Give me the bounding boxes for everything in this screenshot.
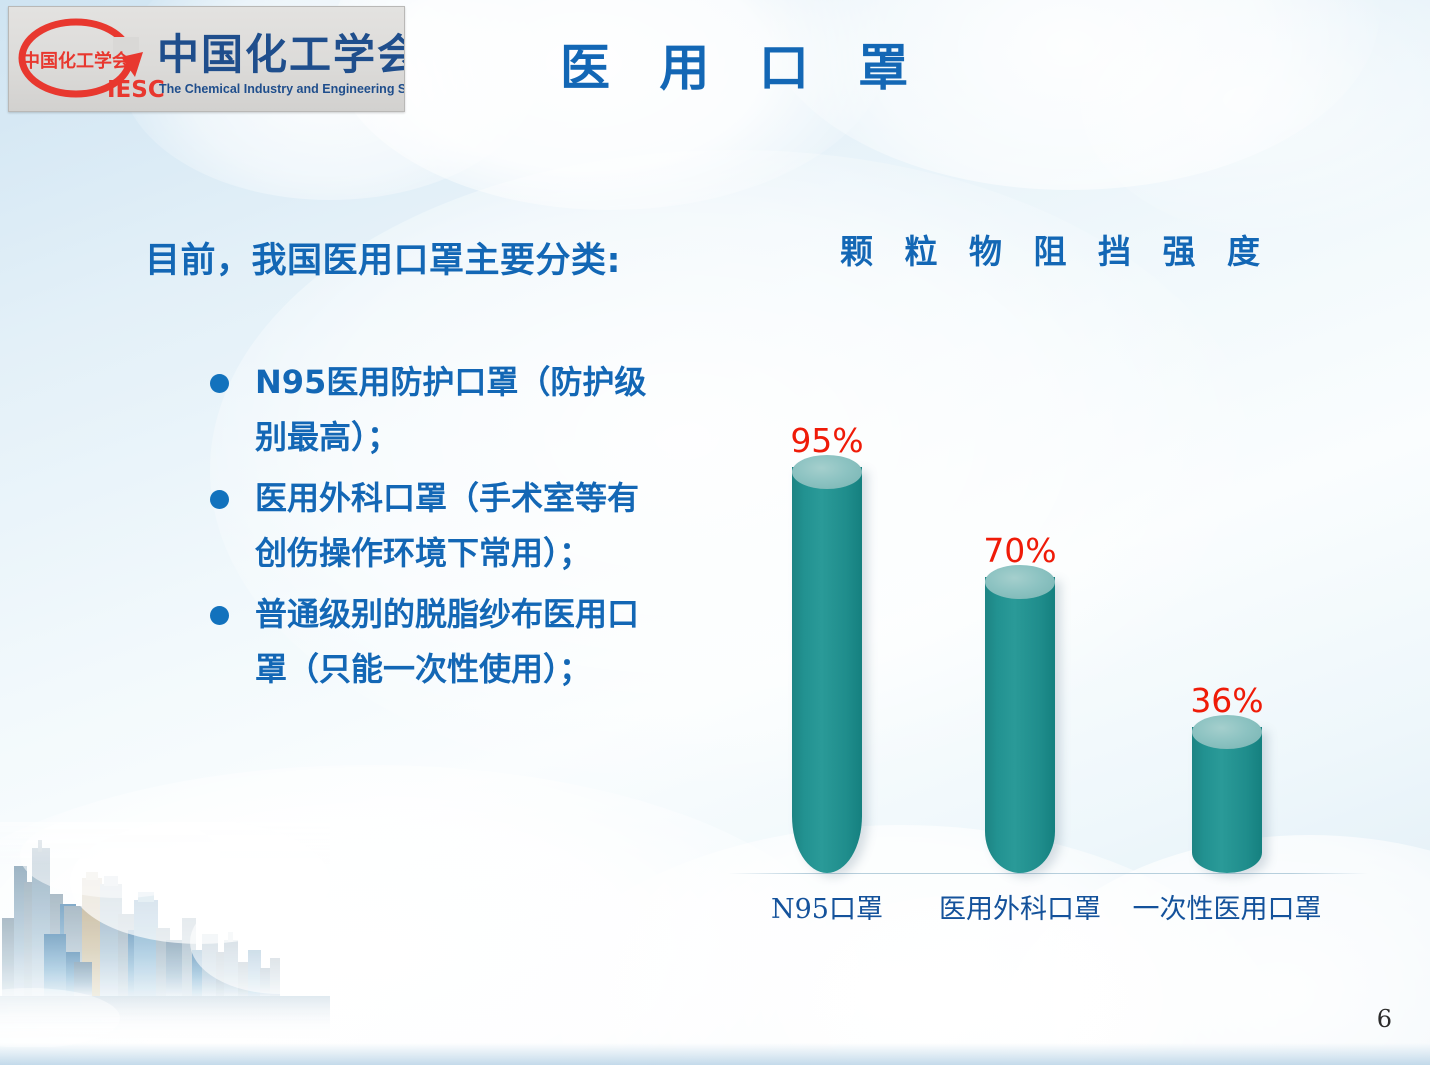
logo-artwork: 中国化工学会 IESC 中国化工学会 The Chemical Industry… (9, 7, 404, 111)
list-item-label: 普通级别的脱脂纱布医用口罩（只能一次性使用）； (255, 587, 655, 697)
category-label: N95口罩 (717, 887, 937, 926)
chart-title: 颗 粒 物 阻 挡 强 度 (700, 225, 1400, 273)
bullet-list: N95医用防护口罩（防护级别最高）； 医用外科口罩（手术室等有创伤操作环境下常用… (210, 355, 670, 703)
bullet-dot-icon (210, 490, 229, 509)
society-logo: 中国化工学会 IESC 中国化工学会 The Chemical Industry… (8, 6, 405, 112)
list-item: N95医用防护口罩（防护级别最高）； (210, 355, 670, 465)
slide-canvas: 中国化工学会 IESC 中国化工学会 The Chemical Industry… (0, 0, 1430, 1065)
category-label: 医用外科口罩 (910, 887, 1130, 926)
bar-column: 36% (1192, 715, 1262, 873)
logo-org-name-en: The Chemical Industry and Engineering So… (159, 82, 404, 96)
cylinder-shape (985, 565, 1055, 873)
category-label: 一次性医用口罩 (1117, 887, 1337, 926)
bar-column: 70% (985, 565, 1055, 873)
bullet-dot-icon (210, 606, 229, 625)
lead-text: 目前，我国医用口罩主要分类: (145, 232, 675, 283)
bar-column: 95% (792, 455, 862, 873)
logo-acronym: IESC (107, 77, 165, 103)
chart-baseline (728, 873, 1368, 874)
bullet-dot-icon (210, 374, 229, 393)
list-item-label: 医用外科口罩（手术室等有创伤操作环境下常用）； (255, 471, 655, 581)
page-title: 医 用 口 罩 (560, 28, 1080, 100)
logo-badge-text: 中国化工学会 (22, 50, 130, 72)
cylinder-shape (792, 455, 862, 873)
cylinder-shape (1192, 715, 1262, 873)
chart-plot-area: 95% 70% 36% N95口罩 医用外科口罩 一次性医用口罩 (700, 295, 1400, 805)
city-skyline-image (0, 822, 330, 1047)
list-item-label: N95医用防护口罩（防护级别最高）； (255, 355, 655, 465)
logo-org-name-cn: 中国化工学会 (157, 30, 404, 79)
bar-chart: 颗 粒 物 阻 挡 强 度 95% 70% 36% N (700, 225, 1400, 865)
list-item: 医用外科口罩（手术室等有创伤操作环境下常用）； (210, 471, 670, 581)
page-number: 6 (1377, 1005, 1392, 1033)
list-item: 普通级别的脱脂纱布医用口罩（只能一次性使用）； (210, 587, 670, 697)
